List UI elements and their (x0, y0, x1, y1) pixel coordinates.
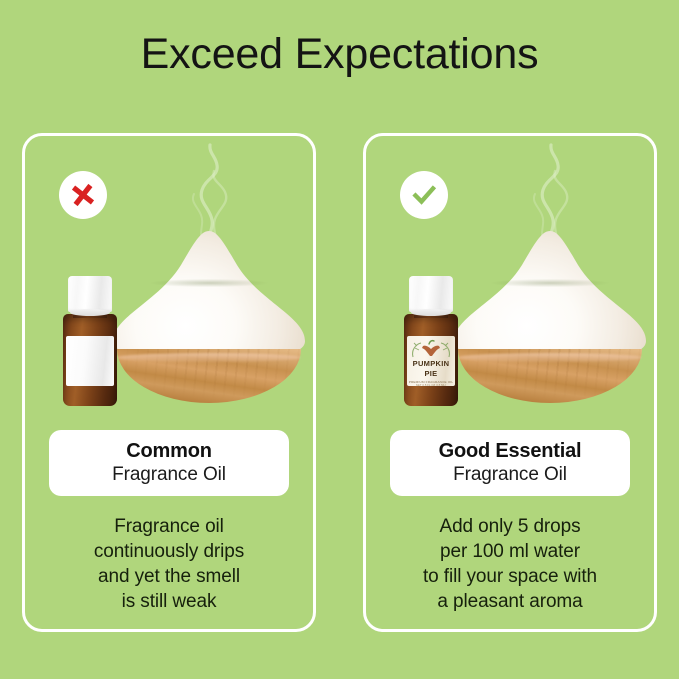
oil-bottle-common (61, 276, 119, 406)
bottle-cap (409, 276, 453, 312)
bottle-cap (68, 276, 112, 312)
bottle-label-blank (66, 336, 114, 386)
description-line: to fill your space with (376, 564, 644, 589)
diffuser-top (113, 231, 305, 359)
card-description-good-essential: Add only 5 drops per 100 ml water to fil… (376, 514, 644, 614)
oil-bottle-good-essential: PUMPKIN PIE PREMIUM FRAGRANCE OIL NET 0.… (402, 276, 460, 406)
product-name: Good Essential (439, 440, 582, 463)
comparison-infographic: Exceed Expectations (0, 0, 679, 679)
description-line: Fragrance oil (35, 514, 303, 539)
description-line: Add only 5 drops (376, 514, 644, 539)
comparison-card-good-essential: PUMPKIN PIE PREMIUM FRAGRANCE OIL NET 0.… (363, 133, 657, 632)
product-name-pill-common: Common Fragrance Oil (49, 430, 289, 496)
pumpkin-illustration-icon (407, 337, 455, 359)
product-scene-good-essential: PUMPKIN PIE PREMIUM FRAGRANCE OIL NET 0.… (366, 136, 654, 421)
description-line: and yet the smell (35, 564, 303, 589)
description-line: is still weak (35, 589, 303, 614)
description-line: continuously drips (35, 539, 303, 564)
bottle-body: PUMPKIN PIE PREMIUM FRAGRANCE OIL NET 0.… (404, 314, 458, 406)
label-product-name-2: PIE (425, 370, 438, 379)
product-scene-common (25, 136, 313, 421)
diffuser-shadow (464, 277, 636, 289)
diffuser-device (113, 231, 305, 403)
diffuser-seam (458, 353, 642, 362)
label-subtitle: PREMIUM FRAGRANCE OIL (409, 380, 454, 384)
description-line: a pleasant aroma (376, 589, 644, 614)
product-name-pill-good-essential: Good Essential Fragrance Oil (390, 430, 630, 496)
diffuser-shadow (123, 277, 295, 289)
diffuser-device (454, 231, 646, 403)
card-description-common: Fragrance oil continuously drips and yet… (35, 514, 303, 614)
label-product-name: PUMPKIN (413, 360, 450, 369)
bottle-label-pumpkin-pie: PUMPKIN PIE PREMIUM FRAGRANCE OIL NET 0.… (407, 336, 455, 386)
product-name: Common (126, 440, 211, 463)
bottle-body (63, 314, 117, 406)
product-type: Fragrance Oil (453, 463, 567, 486)
diffuser-seam (117, 353, 301, 362)
description-line: per 100 ml water (376, 539, 644, 564)
comparison-card-common: Common Fragrance Oil Fragrance oil conti… (22, 133, 316, 632)
product-type: Fragrance Oil (112, 463, 226, 486)
diffuser-top (454, 231, 646, 359)
page-title: Exceed Expectations (0, 30, 679, 79)
